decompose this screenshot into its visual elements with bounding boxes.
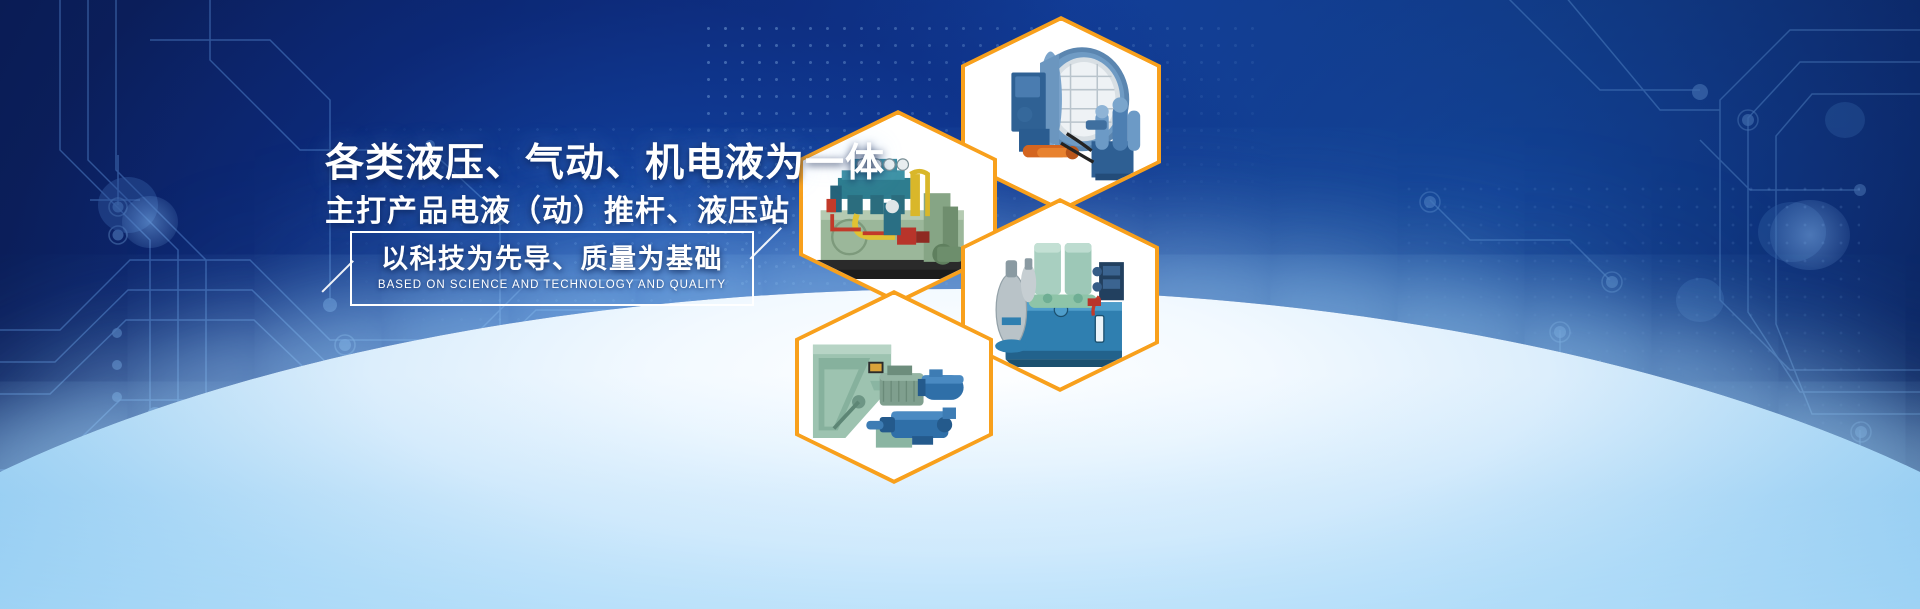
headline-primary: 各类液压、气动、机电液为一体 (325, 132, 785, 188)
slogan-english: BASED ON SCIENCE AND TECHNOLOGY AND QUAL… (378, 280, 726, 292)
decorative-slash-right (749, 227, 781, 259)
slogan-chinese: 以科技为先导、质量为基础 (381, 246, 723, 273)
hero-banner: 各类液压、气动、机电液为一体 主打产品电液（动）推杆、液压站 以科技为先导、质量… (0, 0, 1920, 609)
electro-hydraulic-pusher-photo (799, 295, 989, 480)
banner-copy: 各类液压、气动、机电液为一体 主打产品电液（动）推杆、液压站 以科技为先导、质量… (0, 0, 820, 609)
hexagon-photo-frame (799, 295, 989, 480)
headline-secondary: 主打产品电液（动）推杆、液压站 (325, 186, 785, 230)
decorative-slash-left (321, 260, 353, 292)
slogan-box: 以科技为先导、质量为基础 BASED ON SCIENCE AND TECHNO… (350, 231, 754, 306)
